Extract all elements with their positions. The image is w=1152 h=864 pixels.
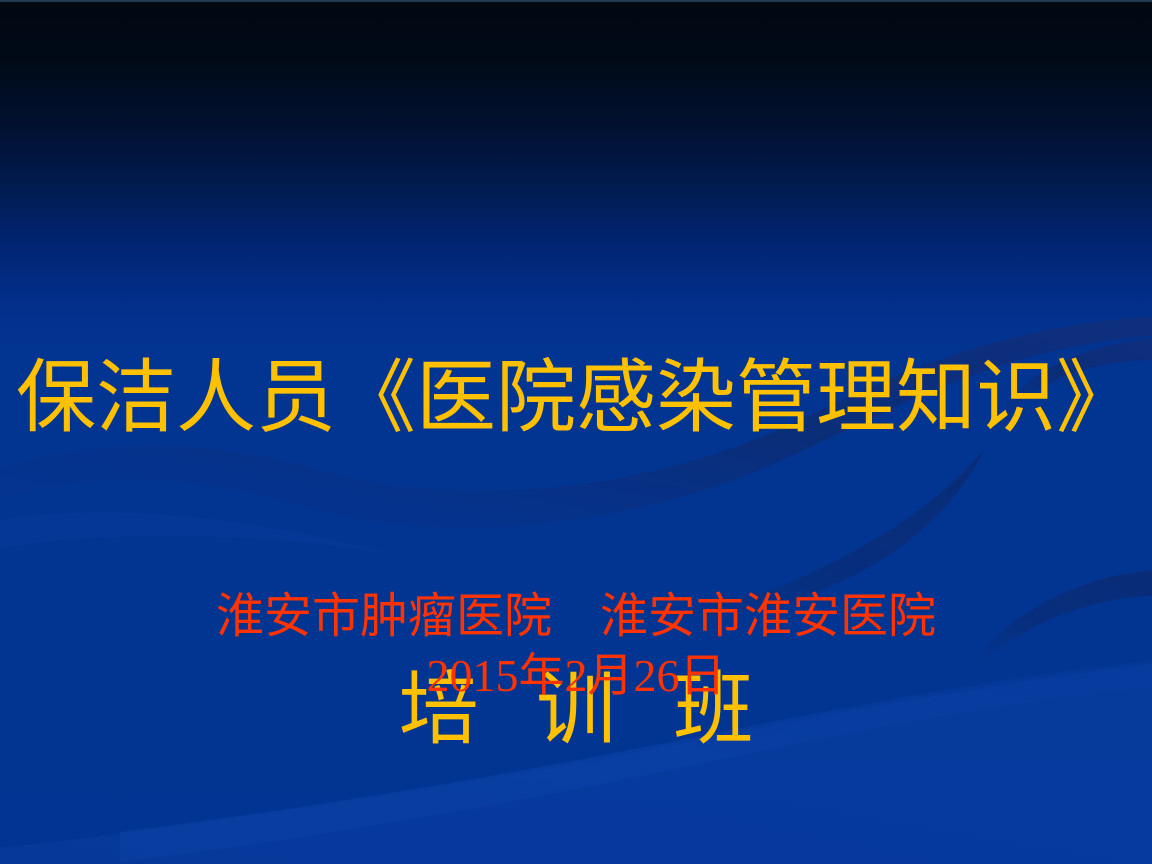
- slide-title: 保洁人员《医院感染管理知识》 培 训 班: [0, 138, 1152, 864]
- slide-top-edge-line: [0, 0, 1152, 2]
- slide-credits: 淮安市肿瘤医院 淮安市淮安医院 2015年2月26日: [0, 587, 1152, 705]
- presentation-slide: 保洁人员《医院感染管理知识》 培 训 班 淮安市肿瘤医院 淮安市淮安医院 201…: [0, 0, 1152, 864]
- organization-names: 淮安市肿瘤医院 淮安市淮安医院: [0, 587, 1152, 647]
- presentation-date: 2015年2月26日: [0, 647, 1152, 705]
- slide-title-line-1: 保洁人员《医院感染管理知识》: [0, 346, 1152, 450]
